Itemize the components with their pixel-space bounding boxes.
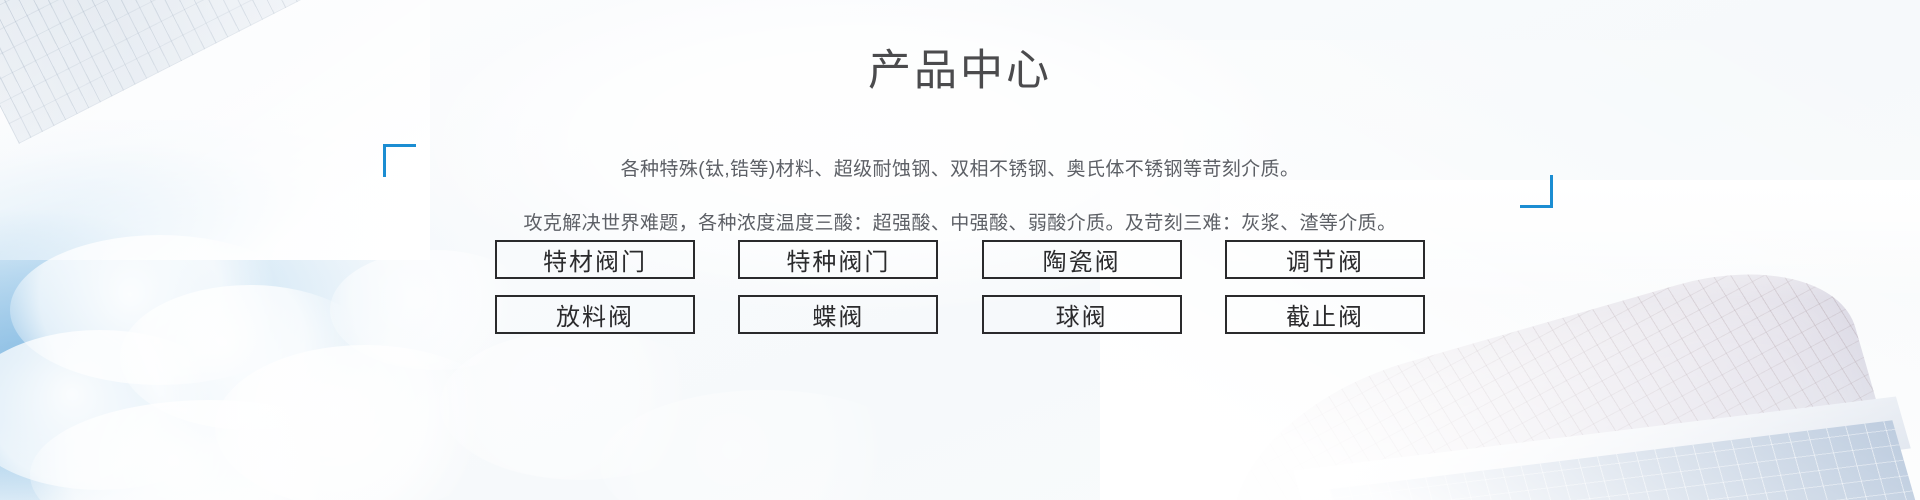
category-button-die-fa[interactable]: 蝶阀 bbox=[738, 295, 938, 334]
product-category-grid: 特材阀门 特种阀门 陶瓷阀 调节阀 放料阀 蝶阀 球阀 截止阀 bbox=[495, 240, 1425, 334]
corner-bracket-top-left-icon bbox=[383, 144, 416, 177]
description-block: 各种特殊(钛,锆等)材料、超级耐蚀钢、双相不锈钢、奥氏体不锈钢等苛刻介质。 攻克… bbox=[0, 152, 1920, 242]
banner-content: 产品中心 各种特殊(钛,锆等)材料、超级耐蚀钢、双相不锈钢、奥氏体不锈钢等苛刻介… bbox=[0, 0, 1920, 500]
description-line-2: 攻克解决世界难题，各种浓度温度三酸：超强酸、中强酸、弱酸介质。及苛刻三难：灰浆、… bbox=[0, 206, 1920, 242]
category-button-techai-famen[interactable]: 特材阀门 bbox=[495, 240, 695, 279]
product-center-banner: 产品中心 各种特殊(钛,锆等)材料、超级耐蚀钢、双相不锈钢、奥氏体不锈钢等苛刻介… bbox=[0, 0, 1920, 500]
category-button-fangliao-fa[interactable]: 放料阀 bbox=[495, 295, 695, 334]
category-button-taoci-fa[interactable]: 陶瓷阀 bbox=[982, 240, 1182, 279]
page-title: 产品中心 bbox=[0, 46, 1920, 98]
category-button-tiaojie-fa[interactable]: 调节阀 bbox=[1225, 240, 1425, 279]
product-category-row-1: 特材阀门 特种阀门 陶瓷阀 调节阀 bbox=[495, 240, 1425, 279]
category-button-jiezhi-fa[interactable]: 截止阀 bbox=[1225, 295, 1425, 334]
product-category-row-2: 放料阀 蝶阀 球阀 截止阀 bbox=[495, 295, 1425, 334]
category-button-tezhong-famen[interactable]: 特种阀门 bbox=[738, 240, 938, 279]
description-line-1: 各种特殊(钛,锆等)材料、超级耐蚀钢、双相不锈钢、奥氏体不锈钢等苛刻介质。 bbox=[0, 152, 1920, 188]
corner-bracket-bottom-right-icon bbox=[1520, 175, 1553, 208]
category-button-qiu-fa[interactable]: 球阀 bbox=[982, 295, 1182, 334]
